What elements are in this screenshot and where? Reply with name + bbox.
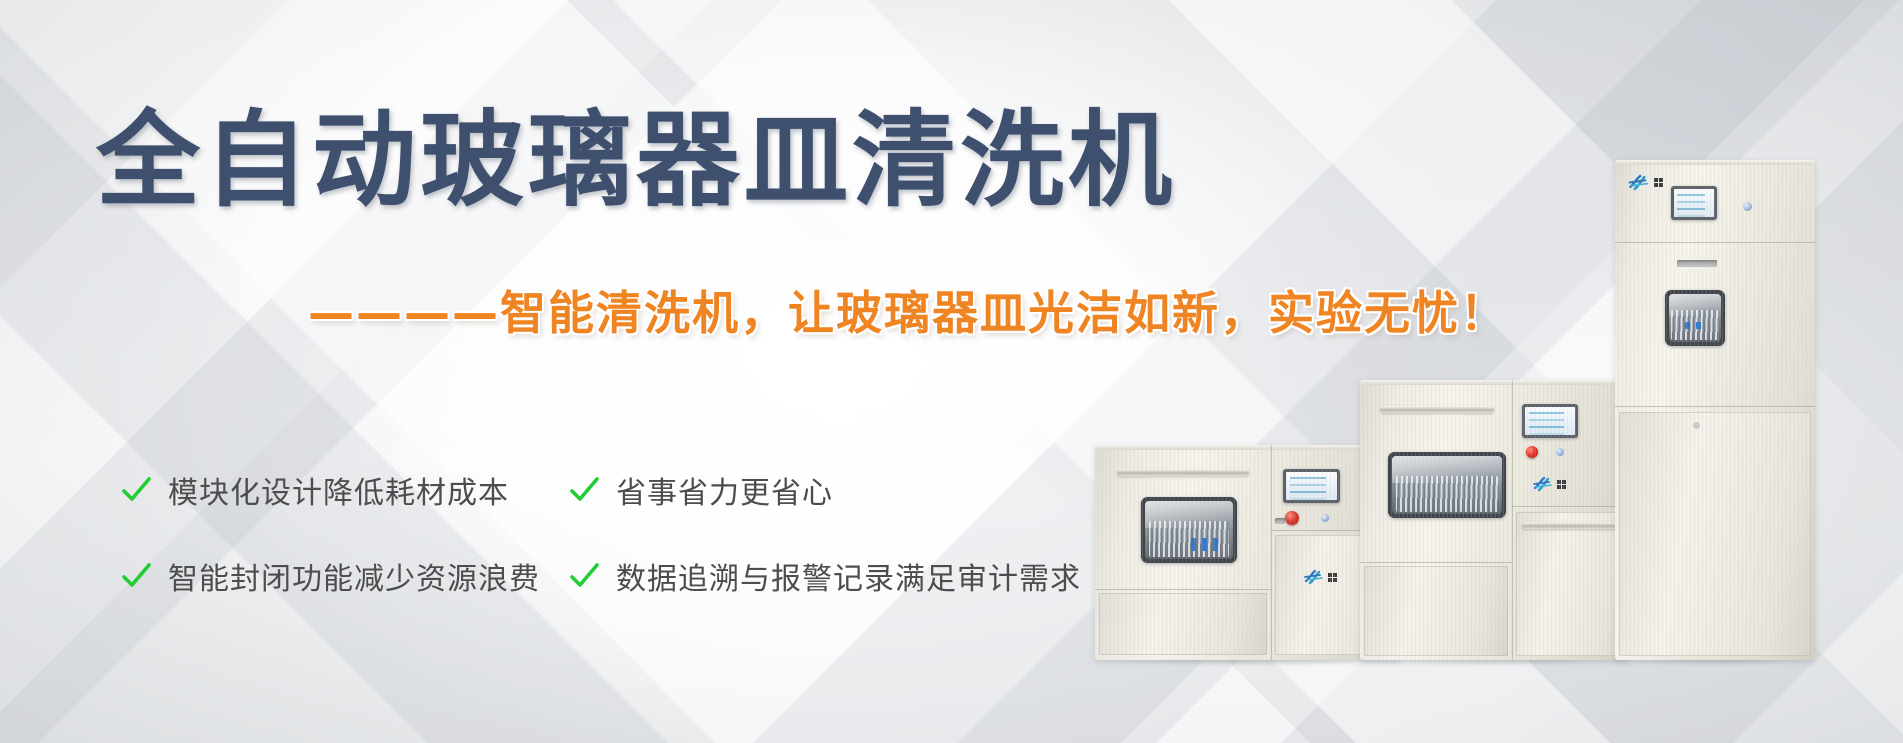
caster-wheel	[1783, 657, 1798, 671]
product-image-freestanding	[1360, 380, 1630, 660]
power-indicator[interactable]	[1743, 202, 1752, 211]
feature-row: 智能封闭功能减少资源浪费 数据追溯与报警记录满足审计需求	[120, 554, 1100, 598]
product-banner: 全自动玻璃器皿清洗机 ————智能清洗机，让玻璃器皿光洁如新，实验无忧！ 模块化…	[0, 0, 1903, 743]
product-image-undercounter	[1095, 445, 1400, 660]
power-indicator[interactable]	[1556, 448, 1564, 456]
feature-item: 数据追溯与报警记录满足审计需求	[568, 554, 1081, 598]
caster-wheel	[1378, 657, 1393, 671]
feature-item: 模块化设计降低耗材成本	[120, 468, 568, 512]
feature-list: 模块化设计降低耗材成本 省事省力更省心 智能封闭功能减少资源浪费	[120, 468, 1100, 640]
caster-wheel	[1590, 657, 1605, 671]
brand-h-logo	[1532, 476, 1566, 492]
caster-wheel	[1227, 657, 1242, 671]
check-icon	[568, 560, 600, 592]
feature-label: 数据追溯与报警记录满足审计需求	[616, 554, 1081, 598]
control-touchscreen[interactable]	[1522, 404, 1578, 438]
caster-wheel	[1335, 657, 1350, 671]
emergency-stop-button[interactable]	[1285, 511, 1299, 525]
feature-item: 省事省力更省心	[568, 468, 833, 512]
feature-label: 智能封闭功能减少资源浪费	[168, 554, 540, 598]
caster-wheel	[1117, 657, 1132, 671]
caster-wheel	[1492, 657, 1507, 671]
viewing-window	[1665, 290, 1725, 346]
check-icon	[120, 474, 152, 506]
power-indicator[interactable]	[1321, 514, 1329, 522]
caster-wheel	[1627, 657, 1642, 671]
control-touchscreen[interactable]	[1283, 469, 1340, 503]
feature-item: 智能封闭功能减少资源浪费	[120, 554, 568, 598]
viewing-window	[1141, 497, 1237, 563]
emergency-stop-button[interactable]	[1526, 446, 1538, 458]
check-icon	[568, 474, 600, 506]
banner-title: 全自动玻璃器皿清洗机	[96, 108, 1176, 212]
brand-h-logo	[1303, 569, 1337, 585]
door-latch[interactable]	[1693, 422, 1700, 429]
control-touchscreen[interactable]	[1671, 186, 1717, 220]
feature-row: 模块化设计降低耗材成本 省事省力更省心	[120, 468, 1100, 512]
brand-h-logo	[1627, 174, 1663, 191]
product-images	[1095, 100, 1903, 660]
check-icon	[120, 560, 152, 592]
viewing-window	[1388, 452, 1506, 518]
feature-label: 省事省力更省心	[616, 468, 833, 512]
feature-label: 模块化设计降低耗材成本	[168, 468, 509, 512]
product-image-tall-cabinet	[1615, 160, 1815, 660]
